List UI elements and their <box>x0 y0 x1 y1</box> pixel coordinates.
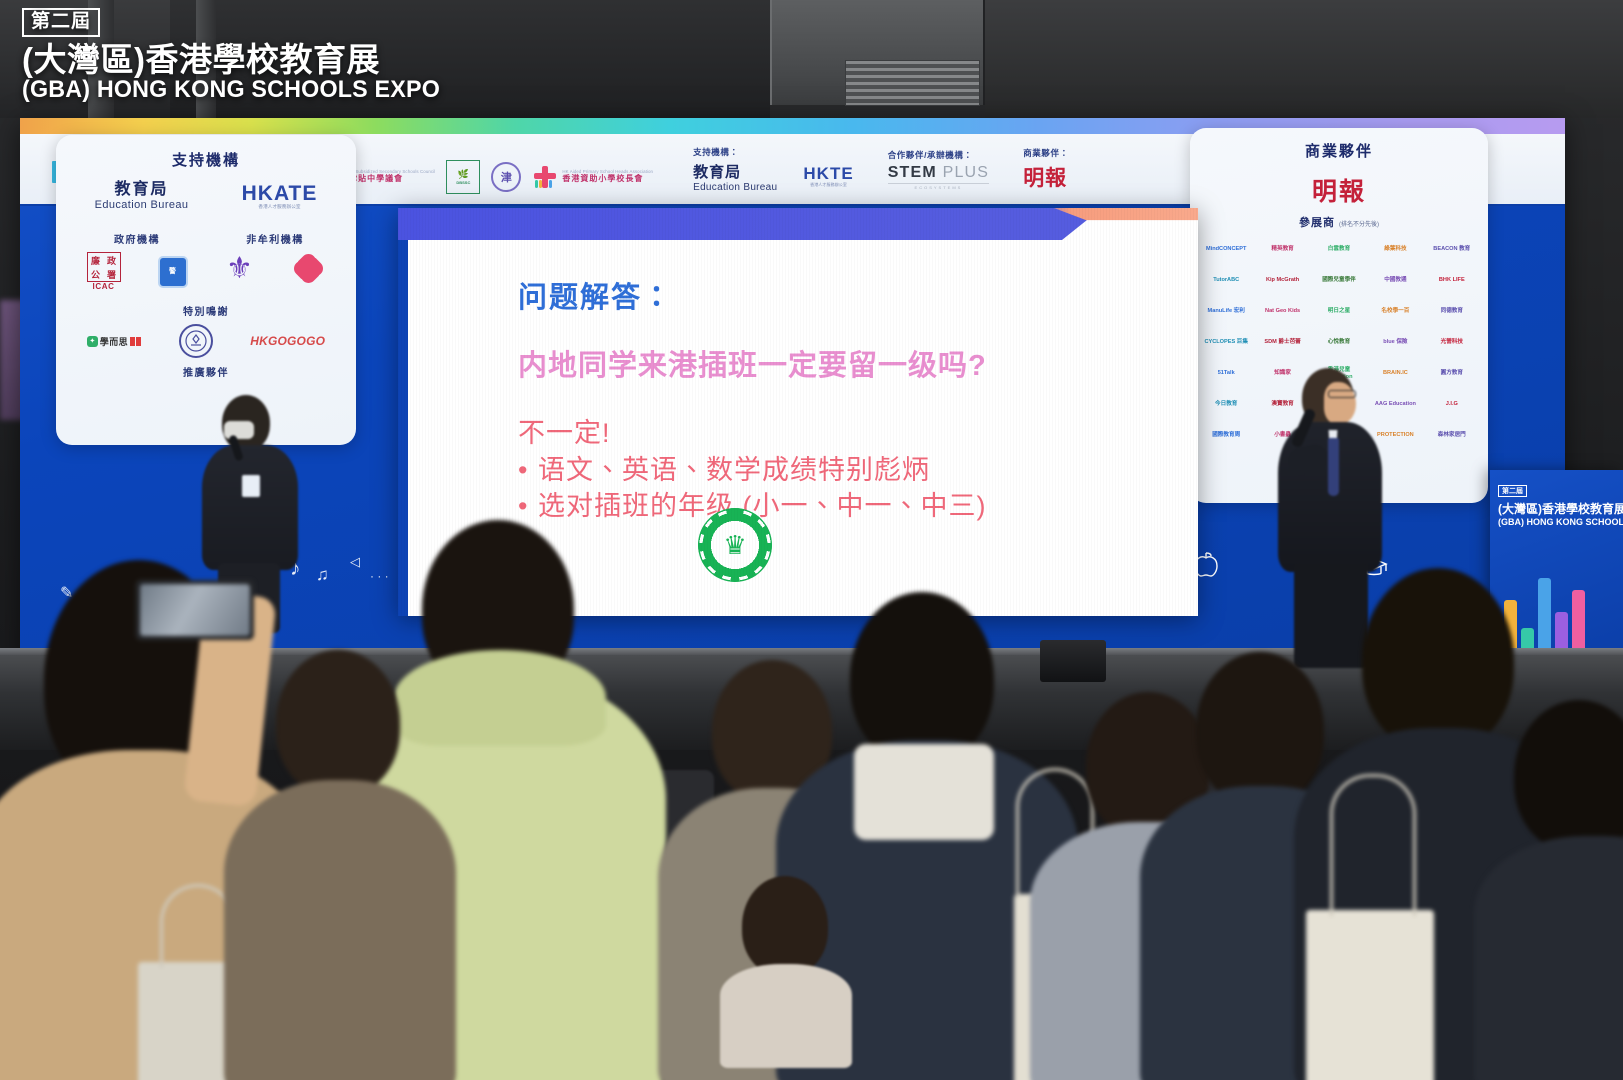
government-subtitle: 政府機構 <box>68 231 206 246</box>
slide-qa-label: 问题解答： <box>518 274 1198 316</box>
hkate-label-cn: 香港人才服務辦公室 <box>803 182 853 188</box>
edb-panel-cn: 教育局 <box>95 181 189 199</box>
slide-bullet-list: 语文、英语、数学成绩特别彪炳选对插班的年级 (小一、中一、中三) <box>518 452 1198 524</box>
exhibitor-logo: 森林家居門 <box>1426 423 1478 448</box>
logo-police: 警 <box>158 256 188 288</box>
speaker-right-legs <box>1294 564 1368 668</box>
exhibitor-logo: 精英教育 <box>1256 237 1308 262</box>
special-thanks-logos: ✦ 學而思 HKGOGOGO <box>68 324 344 358</box>
spsc-mark-icon: 津 <box>491 162 521 192</box>
slide-answer-text: 不一定! <box>518 416 1198 452</box>
school-crest-logo: ♛ <box>698 508 772 582</box>
exhibitors-title-text: 參展商 <box>1299 217 1335 229</box>
exhibitor-logo: 心悅教育 <box>1313 330 1365 355</box>
logo-dbssc: 🌿 DBSSC <box>446 160 480 194</box>
stemplus-sub-label: ECOSYSTEMS <box>888 183 990 190</box>
exhibitor-logo: SDM 爵士芭蕾 <box>1256 330 1308 355</box>
exhibitor-logo: MindCONCEPT <box>1200 237 1252 262</box>
stemplus-mark-icon: STEM PLUS <box>888 164 990 182</box>
exhibitor-logo: 國際兒童學伴 <box>1313 268 1365 293</box>
exhibitor-logo: 今日教育 <box>1200 392 1252 417</box>
hkate-mark-icon: HKTE <box>803 165 853 182</box>
triangle-icon: ◁ <box>350 555 360 568</box>
tote-bag <box>1306 910 1434 1080</box>
phone-screen <box>140 584 250 636</box>
music-note-double-icon: ♫ <box>316 566 329 583</box>
logo-hkgogogo: HKGOGOGO <box>250 334 325 348</box>
logo-xueersi: ✦ 學而思 <box>87 335 141 348</box>
exhibitor-logo: 圓方教育 <box>1426 361 1478 386</box>
partner-caption: 合作夥伴/承辦機構： <box>888 149 990 161</box>
necktie-icon <box>1328 438 1339 496</box>
logo-hkate-panel: HKATE 香港人才服務辦公室 <box>242 183 318 210</box>
edb-label-en: Education Bureau <box>693 182 777 193</box>
special-thanks-subtitle: 特別鳴謝 <box>68 303 344 318</box>
ceiling-panel-right <box>985 0 1623 118</box>
exhibitor-logo: 國際教育周 <box>1200 423 1252 448</box>
speaker-left-torso <box>202 445 298 570</box>
left-panel-primary-logos: 教育局 Education Bureau HKATE 香港人才服務辦公室 <box>68 181 344 212</box>
audience-head <box>850 592 994 764</box>
hkate-panel-mark: HKATE <box>242 183 318 204</box>
seminar-stage-photo: 第二屆 (大灣區)香港學校教育展 (GBA) HONG KONG SCHOOLS… <box>0 0 1623 1080</box>
crown-icon: ♛ <box>723 532 746 558</box>
smartphone <box>136 580 254 640</box>
exhibitor-logo: TutorABC <box>1200 268 1252 293</box>
sponsor-group-business: 商業夥伴： 明報 <box>1023 147 1069 192</box>
exhibitor-logo: 中國教通 <box>1369 268 1421 293</box>
logo-education-bureau-panel: 教育局 Education Bureau <box>95 181 189 212</box>
logo-education-bureau: 教育局 Education Bureau <box>693 161 777 193</box>
event-title-overlay: 第二屆 (大灣區)香港學校教育展 (GBA) HONG KONG SCHOOLS… <box>22 8 453 102</box>
floor-speaker-monitor <box>1040 640 1106 682</box>
slide-content: 问题解答： 内地同学来港插班一定要留一级吗? 不一定! 语文、英语、数学成绩特别… <box>398 240 1198 524</box>
exhibitor-logo: 白雲教育 <box>1313 237 1365 262</box>
business-partner-caption: 商業夥伴： <box>1023 147 1069 159</box>
exhibitor-logo: Nat Geo Kids <box>1256 299 1308 324</box>
slide-bullet-item: 选对插班的年级 (小一、中一、中三) <box>518 488 1198 524</box>
icac-mark-icon: 廉政公署 <box>87 252 121 282</box>
edb-label-cn: 教育局 <box>693 161 777 182</box>
overlay-title-cn: (大灣區)香港學校教育展 <box>22 43 453 76</box>
audience-scarf <box>854 744 994 840</box>
exhibitor-logo: ManuLife 宏利 <box>1200 299 1252 324</box>
logo-stem-plus: STEM PLUS ECOSYSTEMS <box>888 164 990 190</box>
podium-title-en: (GBA) HONG KONG SCHOOLS EXPO <box>1498 517 1615 527</box>
logo-hkate-header: HKTE 香港人才服務辦公室 <box>803 165 853 188</box>
exhibitor-logo: 綠葉科技 <box>1369 237 1421 262</box>
audience-head <box>1362 568 1514 752</box>
speaker-left-mask-icon <box>224 421 254 439</box>
logo-scout: ⚜ <box>227 252 253 286</box>
glasses-icon <box>1328 390 1356 398</box>
logo-mingpao-panel: 明報 <box>1200 172 1478 208</box>
exhibitor-logo: 51Talk <box>1200 361 1252 386</box>
audience-body <box>224 780 456 1080</box>
audience-body <box>720 964 852 1068</box>
nonprofit-section: 非牟利機構 ⚜ <box>206 222 344 291</box>
speaker-right-face <box>1324 382 1356 424</box>
exhibitor-logo: CYCLOPES 巨集 <box>1200 330 1252 355</box>
right-panel-title: 商業夥伴 <box>1200 140 1478 161</box>
audience-head <box>742 876 828 976</box>
dotted-arc-icon: · · · <box>370 570 389 582</box>
slide-bullet-item: 语文、英语、数学成绩特别彪炳 <box>518 452 1198 488</box>
audience-hood <box>394 650 606 746</box>
sponsor-group-supporting: 支持機構： 教育局 Education Bureau HKTE 香港人才服務辦公… <box>693 146 854 193</box>
logo-icac: 廉政公署 ICAC <box>87 252 121 291</box>
overlay-title-en: (GBA) HONG KONG SCHOOLS EXPO <box>22 78 440 102</box>
aphsa-label-cn: 香港資助小學校長會 <box>562 175 653 184</box>
government-section: 政府機構 廉政公署 ICAC 警 <box>68 222 206 291</box>
podium-title-cn: (大灣區)香港學校教育展 <box>1498 500 1615 517</box>
exhibitor-logo: blue 保險 <box>1369 330 1421 355</box>
icac-label: ICAC <box>93 282 115 291</box>
exhibitors-title: 參展商 (排名不分先後) <box>1200 214 1478 230</box>
audience-head <box>1196 652 1324 806</box>
dbssc-mark-icon: 🌿 DBSSC <box>446 160 480 194</box>
logo-spsc: 津 <box>491 162 521 192</box>
logo-hkfyg <box>294 254 324 284</box>
overlay-edition-badge: 第二屆 <box>22 8 100 37</box>
xueersi-dot-icon: ✦ <box>87 336 98 347</box>
exhibitor-logo: 明日之星 <box>1313 299 1365 324</box>
exhibitor-logo: BEACON 教育 <box>1426 237 1478 262</box>
exhibitor-logo: J.I.G <box>1426 392 1478 417</box>
xueersi-label: 學而思 <box>100 335 128 348</box>
logo-university-crest <box>179 324 213 358</box>
bag-strap <box>1330 774 1416 916</box>
flower-icon <box>294 254 324 284</box>
supporting-caption: 支持機構： <box>693 146 854 158</box>
edb-panel-en: Education Bureau <box>95 199 189 212</box>
vent-grille-icon <box>845 60 980 106</box>
promo-partner-subtitle: 推廣夥伴 <box>68 364 344 379</box>
exhibitor-logo: 光營科技 <box>1426 330 1478 355</box>
xueersi-accent-icon <box>130 337 141 346</box>
slide-question-text: 内地同学来港插班一定要留一级吗? <box>518 342 1198 384</box>
speaker-left-lanyard <box>242 475 260 497</box>
dbssc-abbr: DBSSC <box>456 180 470 185</box>
fleur-de-lis-icon: ⚜ <box>227 252 253 286</box>
left-panel-title: 支持機構 <box>68 149 344 170</box>
sponsor-group-partner: 合作夥伴/承辦機構： STEM PLUS ECOSYSTEMS <box>888 149 990 190</box>
podium-edition-badge: 第二屆 <box>1498 485 1527 497</box>
exhibitors-note: (排名不分先後) <box>1339 222 1379 228</box>
audience-head <box>276 650 400 796</box>
audience-body <box>1474 836 1623 1080</box>
police-mark-icon: 警 <box>158 256 188 288</box>
exhibitor-logo: 同德教育 <box>1426 299 1478 324</box>
aphsa-mark-icon <box>532 164 558 190</box>
logo-mingpao-header: 明報 <box>1023 162 1067 192</box>
exhibitor-logo: BHK LIFE <box>1426 268 1478 293</box>
nonprofit-subtitle: 非牟利機構 <box>206 231 344 246</box>
exhibitor-logo: Kip McGrath <box>1256 268 1308 293</box>
logo-aphsa: HK Aided Primary School Heads Associatio… <box>532 164 653 190</box>
exhibitor-logo: 名校學一百 <box>1369 299 1421 324</box>
